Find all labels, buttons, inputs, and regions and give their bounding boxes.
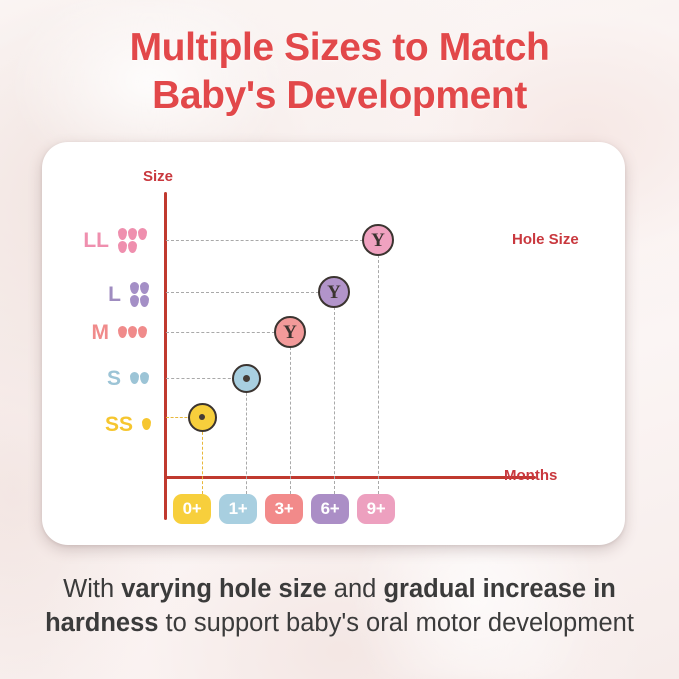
data-point-3plus[interactable]: Y	[274, 316, 306, 348]
droplet-icon-group	[118, 326, 155, 338]
x-axis-badge-3plus[interactable]: 3+	[265, 494, 303, 524]
data-point-6plus[interactable]: Y	[318, 276, 350, 308]
droplet-icon	[140, 282, 149, 294]
droplet-icon	[128, 228, 137, 240]
droplet-icon	[128, 326, 137, 338]
caption-emphasis-1: varying hole size	[121, 575, 327, 603]
x-axis-badge-6plus[interactable]: 6+	[311, 494, 349, 524]
footer-caption: With varying hole size and gradual incre…	[18, 572, 661, 640]
horizontal-guide-line	[166, 240, 368, 241]
x-axis-line	[164, 476, 536, 479]
droplet-icon	[138, 228, 147, 240]
y-tick-label: S	[107, 368, 121, 389]
vertical-guide-line	[246, 388, 247, 494]
caption-text-2: and	[327, 575, 384, 603]
y-cut-icon: Y	[327, 283, 341, 302]
droplet-icon-group	[130, 282, 155, 307]
vertical-guide-line	[290, 342, 291, 494]
droplet-icon	[140, 372, 149, 384]
droplet-icon-group	[142, 418, 155, 430]
y-cut-icon: Y	[371, 231, 385, 250]
x-axis-badge-0plus[interactable]: 0+	[173, 494, 211, 524]
droplet-icon	[128, 241, 137, 253]
y-tick-label: L	[108, 284, 121, 305]
y-axis-tick-ll: LL	[42, 217, 164, 263]
y-axis-tick-s: S	[42, 355, 164, 401]
caption-text-3: to support baby's oral motor development	[158, 609, 633, 637]
chart-card: Size Hole Size Months LLLMSSS YYY 0+1+3+…	[42, 142, 625, 545]
vertical-guide-line	[378, 250, 379, 494]
droplet-icon	[130, 372, 139, 384]
horizontal-guide-line	[166, 378, 236, 379]
data-point-0plus[interactable]	[188, 403, 217, 432]
droplet-icon	[138, 326, 147, 338]
data-point-1plus[interactable]	[232, 364, 261, 393]
droplet-icon	[130, 295, 139, 307]
droplet-icon	[118, 241, 127, 253]
droplet-icon	[118, 228, 127, 240]
y-cut-icon: Y	[283, 323, 297, 342]
y-tick-label: M	[92, 322, 110, 343]
y-axis-tick-m: M	[42, 309, 164, 355]
vertical-guide-line	[334, 302, 335, 494]
vertical-guide-line	[202, 427, 203, 494]
horizontal-guide-line	[166, 332, 280, 333]
x-axis-label: Months	[504, 467, 557, 484]
horizontal-guide-line	[166, 292, 324, 293]
chart-plot-area: Size Hole Size Months LLLMSSS YYY 0+1+3+…	[42, 142, 625, 545]
droplet-icon	[140, 295, 149, 307]
y-axis-label: Size	[143, 168, 173, 185]
droplet-icon	[130, 282, 139, 294]
legend-hole-size: Hole Size	[512, 231, 579, 248]
x-axis-badge-1plus[interactable]: 1+	[219, 494, 257, 524]
pinhole-icon	[243, 375, 250, 382]
droplet-icon-group	[118, 228, 155, 253]
caption-text-1: With	[63, 575, 121, 603]
data-point-9plus[interactable]: Y	[362, 224, 394, 256]
y-tick-label: LL	[83, 230, 109, 251]
y-tick-label: SS	[105, 414, 133, 435]
x-axis-badge-9plus[interactable]: 9+	[357, 494, 395, 524]
y-axis-tick-ss: SS	[42, 401, 164, 447]
y-axis-line	[164, 192, 167, 520]
droplet-icon-group	[130, 372, 155, 384]
droplet-icon	[142, 418, 151, 430]
droplet-icon	[118, 326, 127, 338]
page-title: Multiple Sizes to Match Baby's Developme…	[0, 24, 679, 119]
pinhole-icon	[199, 414, 205, 420]
